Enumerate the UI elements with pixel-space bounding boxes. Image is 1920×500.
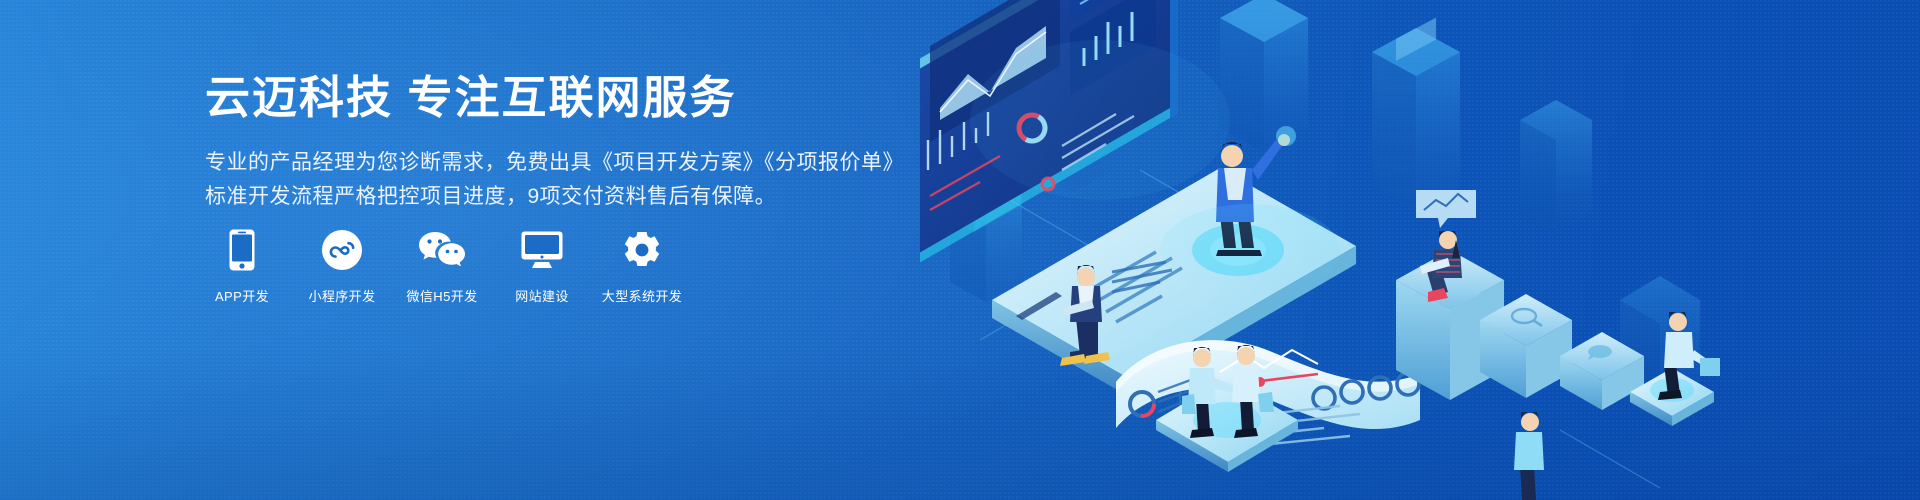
- gear-icon: [622, 228, 662, 272]
- monitor-icon: [521, 228, 563, 272]
- service-label: 大型系统开发: [602, 286, 682, 305]
- mini-program-icon: [322, 228, 362, 272]
- wechat-icon: [417, 228, 467, 272]
- mobile-phone-icon: [229, 228, 255, 272]
- service-label: 微信H5开发: [406, 286, 477, 305]
- service-label: APP开发: [215, 286, 269, 305]
- isometric-tech-teamwork-illustration: [920, 0, 1920, 500]
- service-item-large-system[interactable]: 大型系统开发: [605, 228, 679, 305]
- hero-copy: 云迈科技 专注互联网服务 专业的产品经理为您诊断需求，免费出具《项目开发方案》《…: [205, 72, 905, 214]
- subtitle-line-2: 标准开发流程严格把控项目进度，9项交付资料售后有保障。: [205, 180, 905, 214]
- service-label: 网站建设: [515, 286, 569, 305]
- foreground-person: [1514, 412, 1544, 500]
- service-item-app[interactable]: APP开发: [205, 228, 279, 305]
- hero-banner: 云迈科技 专注互联网服务 专业的产品经理为您诊断需求，免费出具《项目开发方案》《…: [0, 0, 1920, 500]
- subtitle-line-1: 专业的产品经理为您诊断需求，免费出具《项目开发方案》《分项报价单》: [205, 146, 905, 180]
- service-item-wechat-h5[interactable]: 微信H5开发: [405, 228, 479, 305]
- service-label: 小程序开发: [308, 286, 375, 305]
- page-title: 云迈科技 专注互联网服务: [205, 72, 905, 124]
- service-item-website[interactable]: 网站建设: [505, 228, 579, 305]
- service-item-mini-program[interactable]: 小程序开发: [305, 228, 379, 305]
- service-list: APP开发 小程序开发: [205, 228, 679, 305]
